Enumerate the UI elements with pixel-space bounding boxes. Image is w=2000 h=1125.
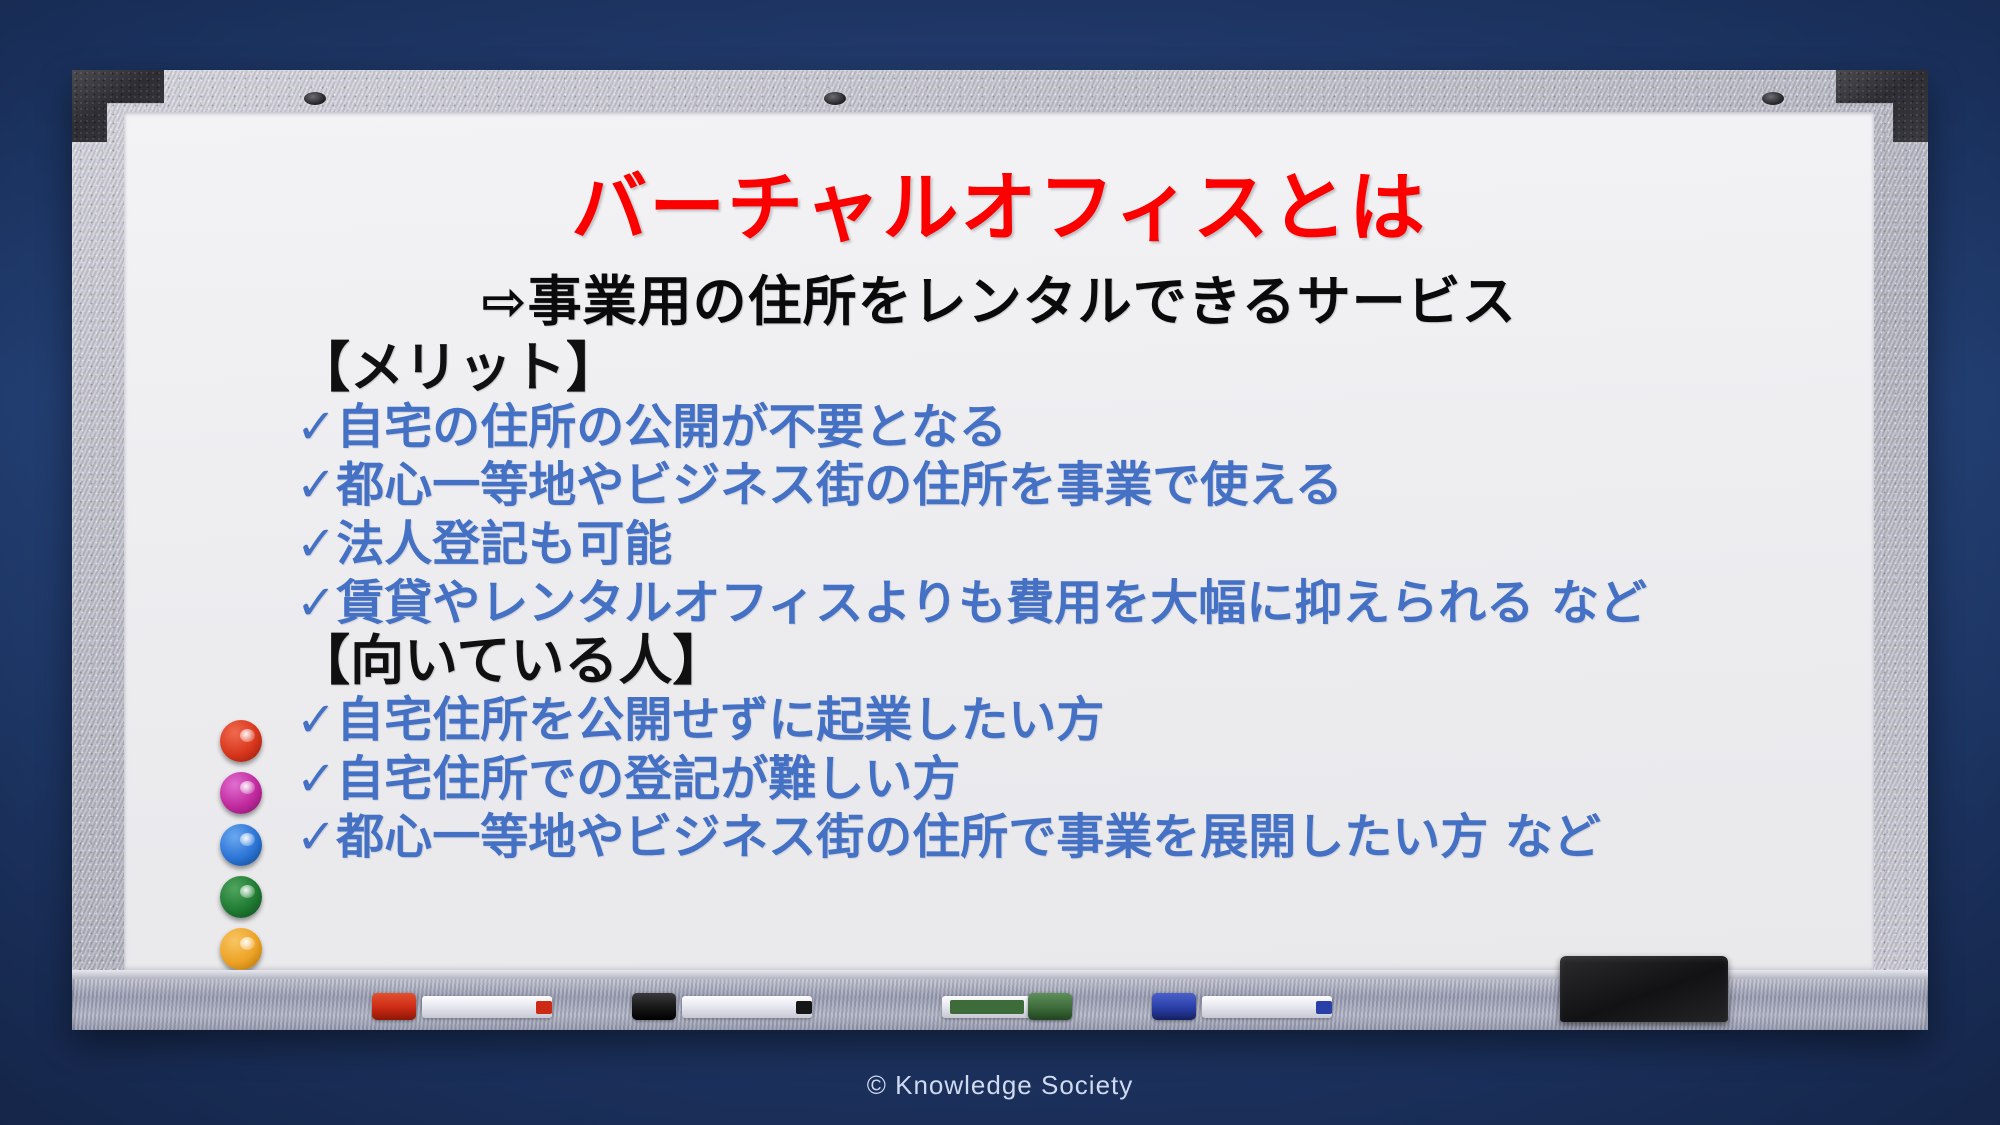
whiteboard-eraser[interactable] xyxy=(1560,956,1728,1022)
copyright-footer: © Knowledge Society xyxy=(0,1070,2000,1101)
marker-cap xyxy=(632,993,676,1020)
section-heading-merit: 【メリット】 xyxy=(296,340,1834,397)
merit-bullet-1: ✓自宅の住所の公開が不要となる xyxy=(296,399,1834,456)
marker-cap xyxy=(1028,993,1072,1020)
frame-screw-right xyxy=(1762,92,1784,105)
marker-tip xyxy=(1316,1001,1332,1014)
whiteboard-surface: バーチャルオフィスとは ⇨事業用の住所をレンタルできるサービス 【メリット】 ✓… xyxy=(124,112,1874,970)
marker-body xyxy=(682,996,812,1018)
slide-title: バーチャルオフィスとは xyxy=(124,146,1874,256)
merit-bullet-4: ✓賃貸やレンタルオフィスよりも費用を大幅に抑えられる など xyxy=(296,575,1834,632)
marker-body xyxy=(422,996,552,1018)
frame-screw-center xyxy=(824,92,846,105)
marker-green[interactable] xyxy=(892,992,1072,1018)
suited-bullet-1: ✓自宅住所を公開せずに起業したい方 xyxy=(296,692,1834,749)
section-heading-suited-people: 【向いている人】 xyxy=(296,633,1834,690)
marker-body xyxy=(1202,996,1332,1018)
merit-bullet-3: ✓法人登記も可能 xyxy=(296,516,1834,573)
magnet-green xyxy=(220,876,262,918)
whiteboard: バーチャルオフィスとは ⇨事業用の住所をレンタルできるサービス 【メリット】 ✓… xyxy=(72,70,1928,1030)
marker-red[interactable] xyxy=(372,992,552,1018)
marker-black[interactable] xyxy=(632,992,812,1018)
marker-blue[interactable] xyxy=(1152,992,1332,1018)
magnet-orange xyxy=(220,928,262,970)
magnet-blue xyxy=(220,824,262,866)
marker-tip xyxy=(950,1000,1024,1014)
magnet-red xyxy=(220,720,262,762)
magnet-strip xyxy=(220,720,262,970)
frame-screw-left xyxy=(304,92,326,105)
suited-bullet-2: ✓自宅住所での登記が難しい方 xyxy=(296,751,1834,808)
marker-cap xyxy=(1152,993,1196,1020)
marker-tip xyxy=(796,1001,812,1014)
presentation-slide: バーチャルオフィスとは ⇨事業用の住所をレンタルできるサービス 【メリット】 ✓… xyxy=(0,0,2000,1125)
magnet-magenta xyxy=(220,772,262,814)
marker-tip xyxy=(536,1001,552,1014)
marker-cap xyxy=(372,993,416,1020)
merit-bullet-2: ✓都心一等地やビジネス街の住所を事業で使える xyxy=(296,457,1834,514)
slide-body: 【メリット】 ✓自宅の住所の公開が不要となる ✓都心一等地やビジネス街の住所を事… xyxy=(296,340,1834,868)
marker-tray xyxy=(72,970,1928,1030)
slide-subtitle: ⇨事業用の住所をレンタルできるサービス xyxy=(124,257,1874,336)
suited-bullet-3: ✓都心一等地やビジネス街の住所で事業を展開したい方 など xyxy=(296,809,1834,866)
